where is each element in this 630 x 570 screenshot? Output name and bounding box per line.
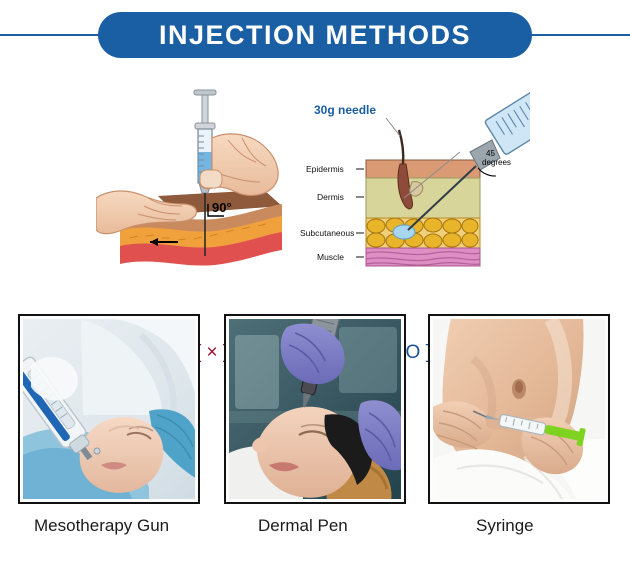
syringe-plunger-flange bbox=[194, 90, 216, 95]
photo-syringe bbox=[433, 319, 605, 499]
header-rule-right bbox=[520, 34, 630, 36]
method-card-dermal-pen[interactable]: Dermal Pen bbox=[224, 314, 406, 536]
label-dermis: Dermis bbox=[317, 192, 344, 202]
label-muscle: Muscle bbox=[317, 252, 344, 262]
header-rule-left bbox=[0, 34, 110, 36]
syringe-plunger-rod bbox=[202, 95, 208, 123]
syringe-flange bbox=[195, 123, 215, 129]
illustration-ninety-degree: 90° bbox=[96, 78, 306, 268]
epidermis-layer bbox=[366, 160, 480, 178]
angle-label-45-unit: degrees bbox=[482, 158, 511, 167]
thumb bbox=[200, 170, 222, 188]
card-caption-dermal-pen: Dermal Pen bbox=[258, 516, 406, 536]
card-caption-mesotherapy-gun: Mesotherapy Gun bbox=[34, 516, 200, 536]
dermal-pen-photo-art bbox=[229, 319, 401, 499]
header-pill: INJECTION METHODS bbox=[98, 12, 532, 58]
needle-gauge-leader bbox=[386, 118, 400, 136]
ninety-degree-diagram: 90° bbox=[96, 78, 306, 268]
illustration-forty-five-degree: 45 degrees 30g needle Epidermis Dermis S… bbox=[300, 78, 530, 268]
skin-cross-section-diagram: 45 degrees 30g needle Epidermis Dermis S… bbox=[300, 78, 530, 268]
angle-label-ninety: 90° bbox=[212, 200, 232, 215]
angle-label-45-value: 45 bbox=[486, 149, 495, 158]
photo-mesotherapy-gun bbox=[23, 319, 195, 499]
method-card-mesotherapy-gun[interactable]: Mesotherapy Gun bbox=[18, 314, 200, 536]
method-card-syringe[interactable]: Syringe bbox=[428, 314, 610, 536]
page-title: INJECTION METHODS bbox=[159, 20, 471, 51]
label-epidermis: Epidermis bbox=[306, 164, 344, 174]
label-subcutaneous: Subcutaneous bbox=[300, 228, 354, 238]
syringe-photo-art bbox=[433, 319, 605, 499]
card-caption-syringe: Syringe bbox=[476, 516, 610, 536]
photo-frame bbox=[428, 314, 610, 504]
photo-frame bbox=[224, 314, 406, 504]
needle-gauge-label: 30g needle bbox=[314, 103, 376, 117]
illustration-row: 90° bbox=[0, 78, 630, 293]
page-header: INJECTION METHODS bbox=[0, 12, 630, 58]
method-card-list: Mesotherapy Gun bbox=[0, 314, 630, 564]
mesotherapy-photo-art bbox=[23, 319, 195, 499]
dermis-layer bbox=[366, 178, 480, 218]
photo-dermal-pen bbox=[229, 319, 401, 499]
photo-frame bbox=[18, 314, 200, 504]
